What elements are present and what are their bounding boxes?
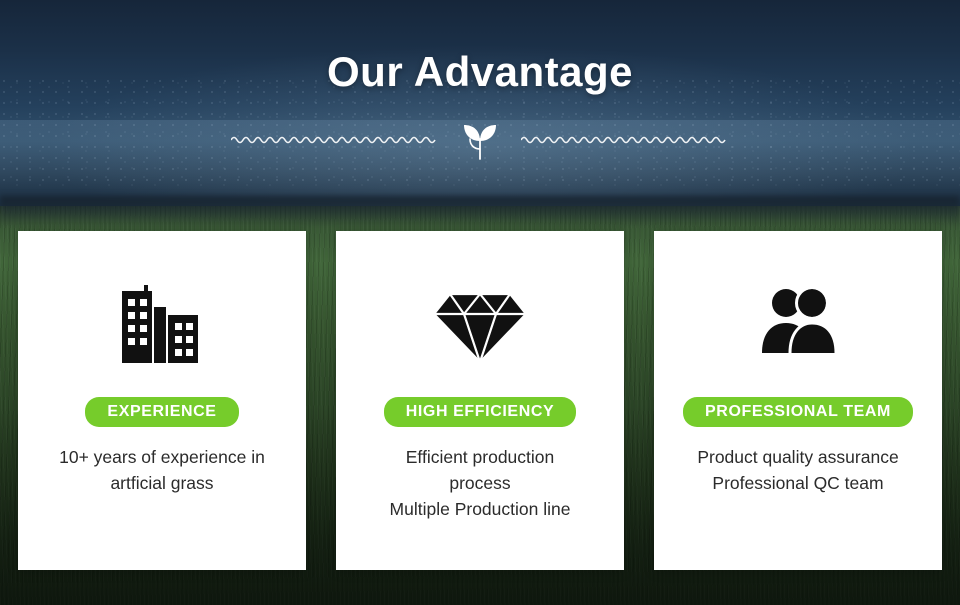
wavy-line-right-icon [521,133,729,147]
advantage-card-high-efficiency[interactable]: HIGH EFFICIENCY Efficient production pro… [336,231,624,570]
card-description: Product quality assurance Professional Q… [683,444,912,496]
card-badge: EXPERIENCE [85,397,238,427]
team-people-icon [746,259,850,389]
advantage-card-professional-team[interactable]: PROFESSIONAL TEAM Product quality assura… [654,231,942,570]
title-divider [0,118,960,162]
page-header: Our Advantage [0,44,960,100]
advantage-banner: Our Advantage [0,0,960,605]
card-description: 10+ years of experience in artficial gra… [45,444,279,496]
card-description-line: 10+ years of experience in [59,444,265,470]
card-description-line: process [390,470,571,496]
page-title: Our Advantage [0,44,960,100]
advantage-cards: EXPERIENCE 10+ years of experience in ar… [0,231,960,570]
card-description-line: Multiple Production line [390,496,571,522]
wavy-line-left-icon [231,133,439,147]
diamond-icon [428,259,532,389]
leaf-icon [453,118,507,162]
card-badge: PROFESSIONAL TEAM [683,397,913,427]
buildings-icon [114,259,210,389]
card-description-line: Professional QC team [697,470,898,496]
card-description-line: Efficient production [390,444,571,470]
card-description: Efficient production process Multiple Pr… [376,444,585,522]
field-horizon-blur [0,196,960,224]
stadium-background [0,0,960,228]
card-description-line: Product quality assurance [697,444,898,470]
card-badge: HIGH EFFICIENCY [384,397,577,427]
card-description-line: artficial grass [59,470,265,496]
advantage-card-experience[interactable]: EXPERIENCE 10+ years of experience in ar… [18,231,306,570]
